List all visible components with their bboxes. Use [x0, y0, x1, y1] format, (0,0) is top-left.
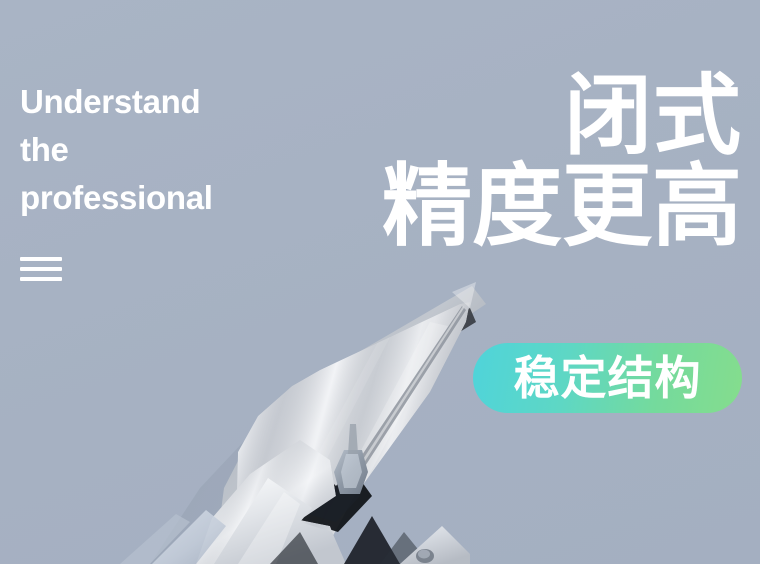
feature-badge: 稳定结构	[473, 343, 742, 413]
feature-badge-label: 稳定结构	[514, 353, 702, 403]
page-title: Understand the professional	[20, 78, 320, 222]
chinese-headline-line-2: 精度更高	[382, 158, 742, 256]
chinese-headline-line-1: 闭式	[382, 68, 742, 164]
menu-line-3	[20, 277, 62, 281]
menu-line-1	[20, 257, 62, 261]
hamburger-menu-icon[interactable]	[20, 257, 62, 285]
chinese-headline: 闭式 精度更高	[382, 68, 742, 256]
menu-line-2	[20, 267, 62, 271]
product-banner: Understand the professional 闭式 精度更高 稳定结构	[0, 0, 760, 564]
